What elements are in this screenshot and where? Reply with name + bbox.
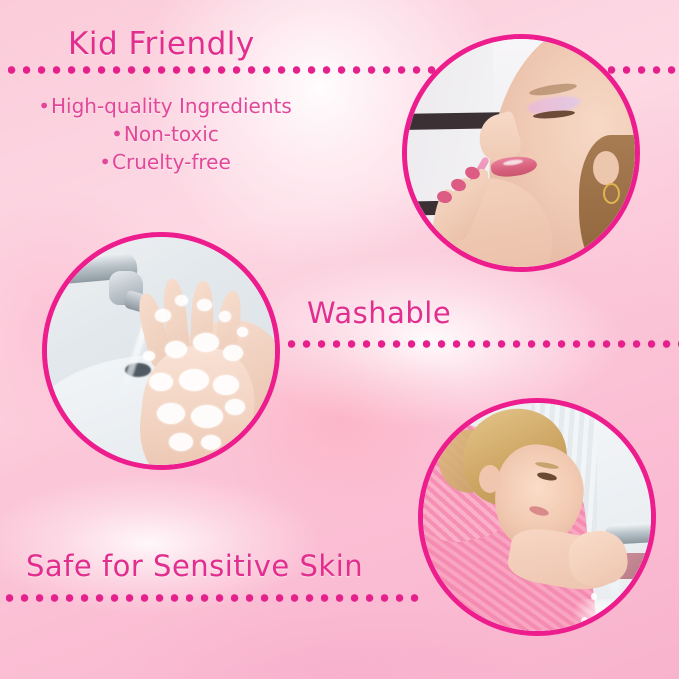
water-droplet [613, 613, 618, 620]
girl-ear [593, 151, 619, 185]
soap-sud [155, 309, 171, 322]
heading-kid-friendly: Kid Friendly [68, 26, 255, 62]
heading-washable: Washable [307, 296, 451, 330]
soap-sud [237, 327, 248, 337]
gold-earring [603, 183, 620, 204]
water-droplet [597, 629, 603, 631]
feature-item: High-quality Ingredients [0, 92, 330, 120]
water-splash [573, 599, 629, 631]
water-droplet [581, 617, 588, 626]
photo-lipgloss-content [407, 39, 635, 267]
feature-bullet-list: High-quality Ingredients Non-toxic Cruel… [0, 92, 330, 176]
soap-sud [193, 333, 219, 352]
soap-sud [175, 295, 188, 306]
soap-sud [143, 351, 155, 361]
soap-sud [219, 311, 231, 322]
feature-item: Non-toxic [0, 120, 330, 148]
soap-sud [191, 405, 223, 428]
toddler-ear [479, 465, 501, 493]
feature-item: Cruelty-free [0, 148, 330, 176]
photo-hands-washing-with-soap [42, 232, 280, 470]
soap-sud [223, 345, 243, 361]
photo-girlsink-content [423, 403, 651, 631]
soap-sud [225, 399, 245, 415]
soap-sud [197, 299, 212, 311]
heading-safe-for-sensitive-skin: Safe for Sensitive Skin [26, 549, 363, 583]
photo-handwash-content [47, 237, 275, 465]
soap-sud [149, 373, 173, 391]
soap-sud [213, 375, 239, 395]
soap-sud [169, 433, 193, 451]
photo-girl-applying-lip-gloss [402, 34, 640, 272]
photo-toddler-washing-hands [418, 398, 656, 636]
dotted-divider-middle [288, 340, 679, 348]
water-droplet [591, 593, 597, 600]
soap-sud [157, 403, 185, 424]
soap-sud [179, 369, 209, 391]
dotted-divider-bottom [6, 594, 423, 602]
soap-sud [165, 341, 187, 358]
product-feature-poster: Kid Friendly Washable Safe for Sensitive… [0, 0, 679, 679]
soap-sud [201, 435, 221, 450]
